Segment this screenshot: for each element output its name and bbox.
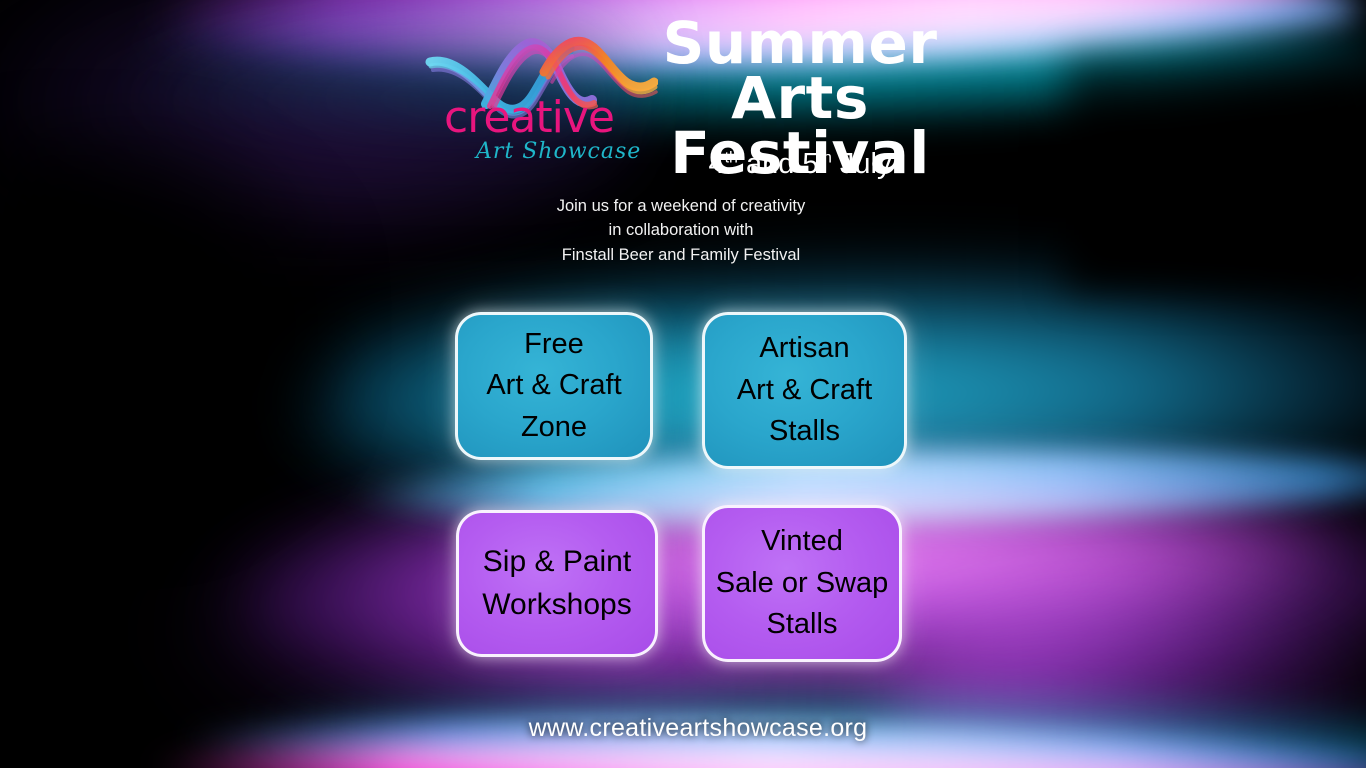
card-line: Art & Craft	[737, 370, 872, 411]
title-line-1: Summer Arts	[600, 16, 1000, 126]
card-line: Sip & Paint	[482, 541, 632, 584]
event-date: 4th and 5th July	[600, 148, 1000, 181]
card-free-art-craft-zone[interactable]: Free Art & Craft Zone	[455, 312, 653, 460]
card-line: Stalls	[737, 411, 872, 452]
date-ordinal-first: th	[725, 149, 738, 166]
card-line: Sale or Swap	[716, 563, 889, 604]
event-blurb: Join us for a weekend of creativity in c…	[481, 194, 881, 267]
card-sip-paint-workshops[interactable]: Sip & Paint Workshops	[456, 510, 658, 657]
card-line: Art & Craft	[486, 365, 621, 406]
card-line: Stalls	[716, 604, 889, 645]
card-line: Workshops	[482, 584, 632, 627]
website-url-text: www.creativeartshowcase.org	[499, 714, 868, 742]
card-artisan-art-craft-stalls[interactable]: Artisan Art & Craft Stalls	[702, 312, 907, 469]
blurb-line-2: in collaboration with	[481, 218, 881, 242]
card-line: Artisan	[737, 328, 872, 369]
website-url[interactable]: www.creativeartshowcase.org	[0, 714, 1366, 743]
blurb-line-1: Join us for a weekend of creativity	[481, 194, 881, 218]
date-conjunction: and 5	[738, 148, 819, 180]
date-ordinal-second: th	[819, 149, 832, 166]
blurb-line-3: Finstall Beer and Family Festival	[481, 243, 881, 267]
festival-poster: creative Art Showcase Summer Arts Festiv…	[0, 0, 1366, 768]
date-month: July	[832, 148, 892, 180]
card-line: Zone	[486, 407, 621, 448]
logo-wordmark: creative	[444, 92, 614, 143]
card-vinted-sale-or-swap-stalls[interactable]: Vinted Sale or Swap Stalls	[702, 505, 902, 662]
card-line: Vinted	[716, 521, 889, 562]
date-day-first: 4	[708, 148, 724, 180]
card-line: Free	[486, 324, 621, 365]
